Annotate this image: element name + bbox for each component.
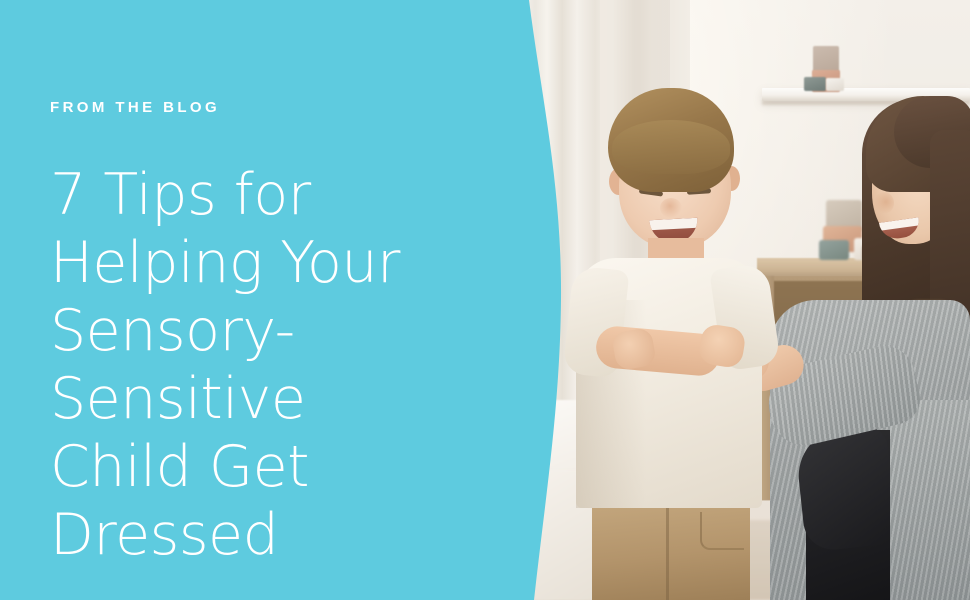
shelf-block-sage	[804, 77, 826, 91]
page-title: 7 Tips for Helping Your Sensory-Sensitiv…	[50, 161, 520, 569]
shelf-block-white	[826, 78, 844, 91]
stacking-block-3	[819, 240, 849, 260]
blog-hero-banner: FROM THE BLOG 7 Tips for Helping Your Se…	[0, 0, 970, 600]
boy-hair-fringe	[612, 120, 730, 174]
mother-sweater-hem-texture	[890, 400, 970, 600]
boy-teeth	[649, 218, 697, 230]
boy-pants-seam	[666, 500, 669, 600]
boy-pants-pocket	[700, 512, 744, 550]
mother-nose	[874, 192, 894, 214]
hero-text-block: FROM THE BLOG 7 Tips for Helping Your Se…	[50, 100, 520, 569]
boy-nose	[660, 198, 682, 218]
kicker-label: FROM THE BLOG	[50, 100, 520, 115]
